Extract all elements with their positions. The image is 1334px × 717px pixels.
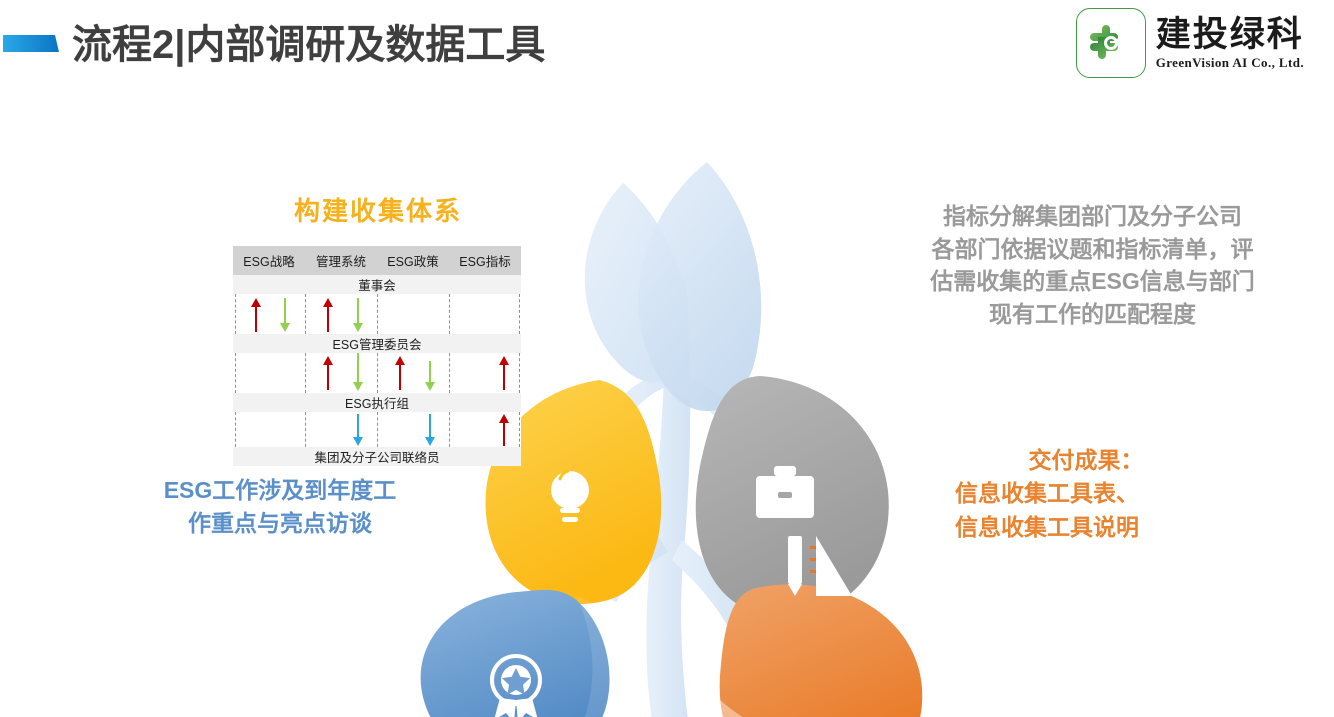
table-row-committee: ESG管理委员会 bbox=[233, 334, 521, 353]
column-header-esg-policy: ESG政策 bbox=[377, 246, 449, 275]
callout-gray: 指标分解集团部门及分子公司 各部门依据议题和指标清单，评 估需收集的重点ESG信… bbox=[880, 200, 1305, 331]
org-structure-table: ESG战略 管理系统 ESG政策 ESG指标 董事会 bbox=[233, 246, 521, 432]
table-row-board: 董事会 bbox=[233, 275, 521, 294]
callout-gray-line-1: 指标分解集团部门及分子公司 bbox=[880, 200, 1305, 233]
header-accent-shape bbox=[3, 32, 59, 55]
callout-gray-line-2: 各部门依据议题和指标清单，评 bbox=[880, 233, 1305, 266]
callout-gray-line-4: 现有工作的匹配程度 bbox=[880, 298, 1305, 331]
arrow-zone-committee-to-exec bbox=[233, 353, 521, 393]
page-title: 流程2|内部调研及数据工具 bbox=[72, 12, 545, 70]
column-header-esg-strategy: ESG战略 bbox=[233, 246, 305, 275]
column-header-esg-indicator: ESG指标 bbox=[449, 246, 521, 275]
diagram-title: 构建收集体系 bbox=[233, 191, 523, 228]
company-logo: 建投绿科 GreenVision AI Co., Ltd. bbox=[1076, 8, 1304, 78]
callout-orange-line-2: 信息收集工具表、 bbox=[955, 477, 1285, 510]
callout-blue-line-2: 作重点与亮点访谈 bbox=[130, 507, 430, 540]
logo-company-en: GreenVision AI Co., Ltd. bbox=[1156, 56, 1304, 69]
leaf-quality bbox=[421, 590, 625, 717]
table-row-exec: ESG执行组 bbox=[233, 393, 521, 412]
table-row-liaison: 集团及分子公司联络员 bbox=[233, 447, 521, 466]
callout-orange: 交付成果： 信息收集工具表、 信息收集工具说明 bbox=[955, 444, 1285, 544]
callout-orange-line-3: 信息收集工具说明 bbox=[955, 511, 1285, 544]
slide-canvas: 流程2|内部调研及数据工具 建投绿科 GreenVision AI Co., L… bbox=[0, 0, 1334, 717]
logo-text: 建投绿科 GreenVision AI Co., Ltd. bbox=[1156, 17, 1304, 69]
logo-company-cn: 建投绿科 bbox=[1156, 17, 1304, 52]
callout-orange-line-1: 交付成果： bbox=[955, 444, 1285, 477]
arrow-zone-board-to-committee bbox=[233, 294, 521, 334]
callout-blue: ESG工作涉及到年度工 作重点与亮点访谈 bbox=[130, 474, 430, 539]
column-header-management-system: 管理系统 bbox=[305, 246, 377, 275]
arrow-zone-exec-to-liaison bbox=[233, 412, 521, 447]
greenvision-logo-mark-icon bbox=[1076, 8, 1146, 78]
table-header-row: ESG战略 管理系统 ESG政策 ESG指标 bbox=[233, 246, 521, 275]
callout-blue-line-1: ESG工作涉及到年度工 bbox=[130, 474, 430, 507]
callout-gray-line-3: 估需收集的重点ESG信息与部门 bbox=[880, 265, 1305, 298]
logo-glyph-icon bbox=[1085, 17, 1137, 69]
